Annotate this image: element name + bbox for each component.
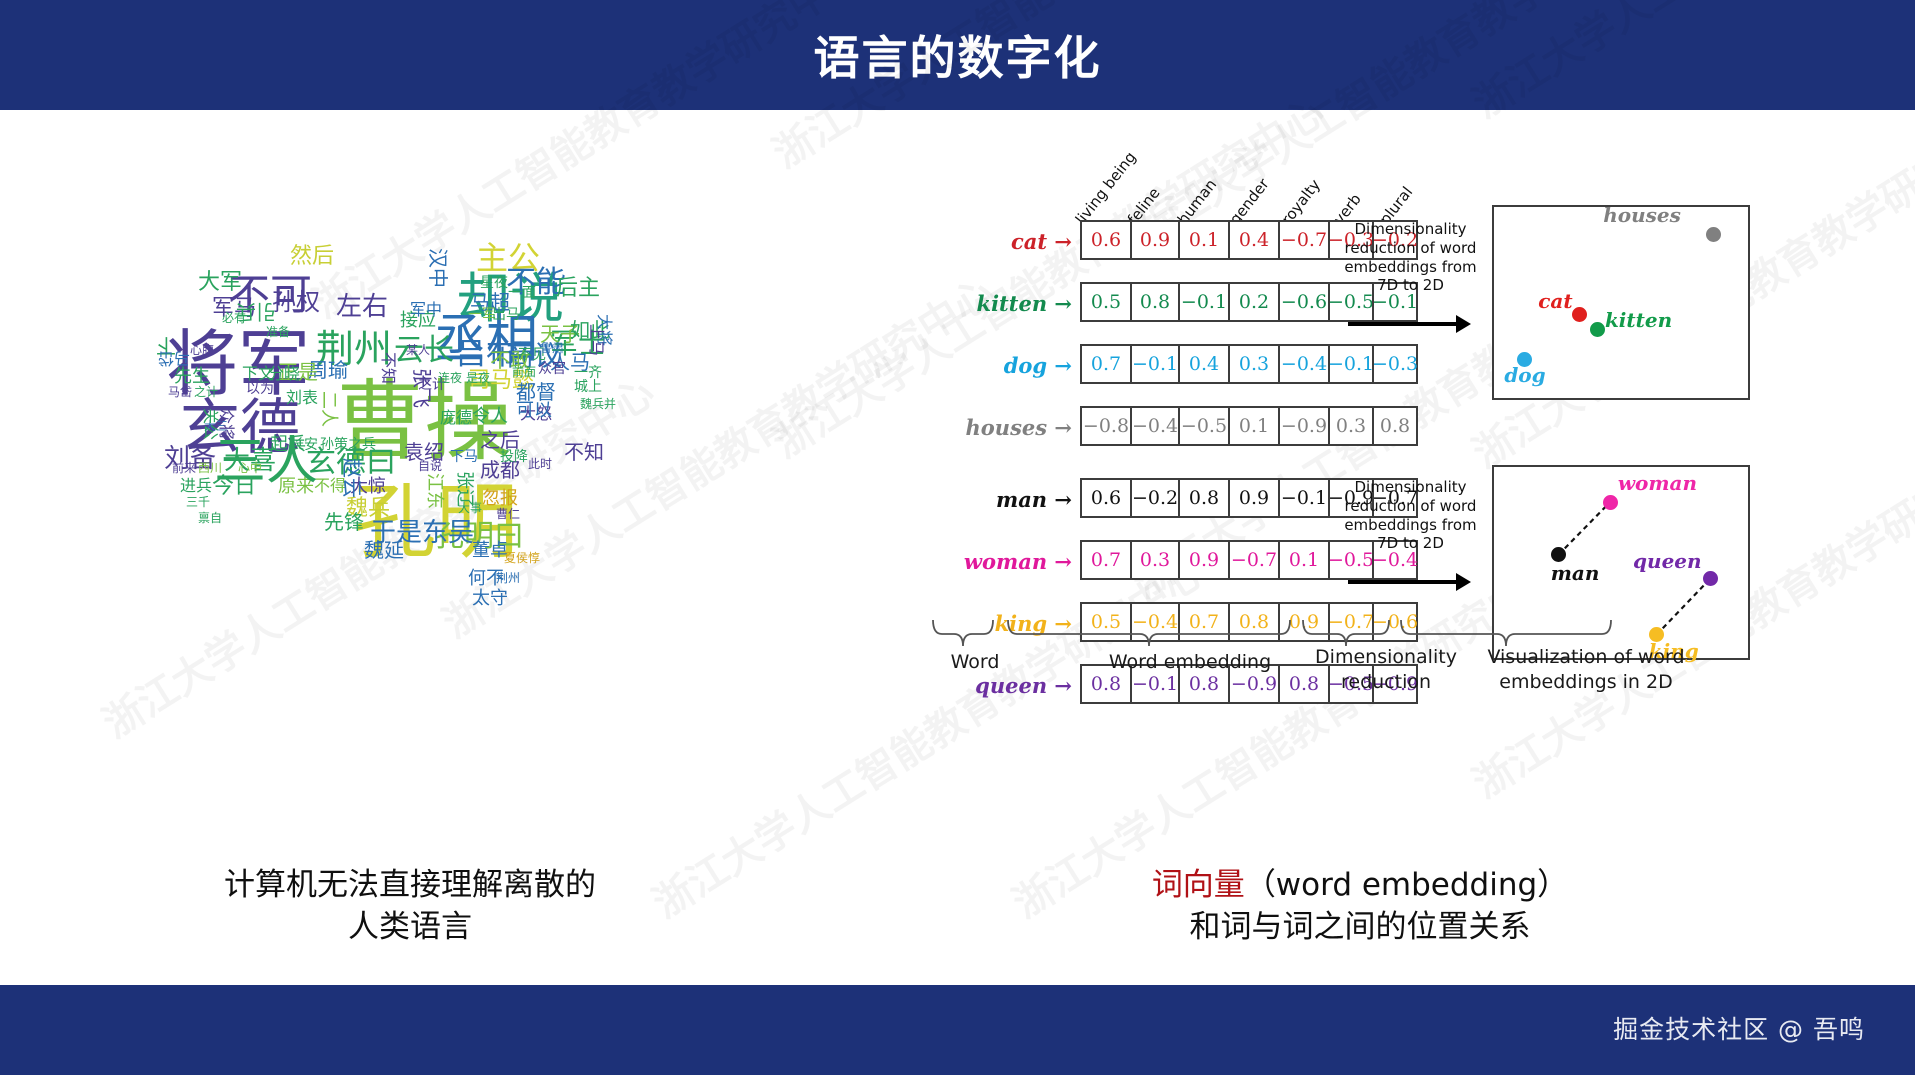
brace-label-word-embedding: Word embedding	[1060, 650, 1320, 675]
embedding-cell: −0.4	[1130, 406, 1180, 446]
scatter-point-queen	[1703, 571, 1718, 586]
embedding-cell: −0.9	[1278, 406, 1330, 446]
embedding-cell: 0.6	[1080, 478, 1132, 518]
word-cloud-term: 忽报	[482, 490, 518, 508]
scatter-point-kitten	[1590, 322, 1605, 337]
word-cloud-term: 庞德	[440, 410, 472, 426]
embedding-cell: −0.2	[1130, 478, 1180, 518]
word-cloud-term: 关公	[202, 408, 218, 440]
word-cloud-term: 准备	[266, 326, 290, 338]
word-cloud-term: 三千	[186, 496, 210, 508]
scatter-point-woman	[1603, 495, 1618, 510]
word-cloud-term: 左右	[336, 294, 388, 320]
brace-label-dim-reduction: Dimensionality reduction	[1306, 645, 1466, 694]
word-cloud-term: 可以	[516, 402, 552, 420]
scatter-label-queen: queen	[1633, 549, 1702, 573]
word-cloud-term: 禀自	[198, 512, 222, 524]
dim-reduction-arrow-top-label: Dimensionality reduction of word embeddi…	[1344, 220, 1476, 294]
dim-reduction-arrow-bottom-label: Dimensionality reduction of word embeddi…	[1344, 478, 1476, 552]
scatter-point-houses	[1706, 227, 1721, 242]
embedding-cell: −0.7	[1228, 540, 1280, 580]
word-cloud-term: 引兵	[236, 302, 276, 322]
dim-reduction-arrow-top: Dimensionality reduction of word embeddi…	[1343, 220, 1478, 295]
scatter-label-kitten: kitten	[1605, 308, 1672, 332]
word-cloud-term: 张辽	[455, 471, 473, 507]
embedding-cell: −0.1	[1130, 344, 1180, 384]
word-cloud-term: 夏侯惇	[504, 552, 540, 564]
embedding-cell: 0.3	[1328, 406, 1374, 446]
footer-credit: 掘金技术社区 @ 吾鸣	[1613, 1010, 1865, 1046]
embedding-cell: 0.7	[1080, 540, 1132, 580]
word-cloud-term: 前面	[512, 366, 536, 378]
embedding-cell: −0.4	[1278, 344, 1330, 384]
embedding-cell: 0.1	[1278, 540, 1330, 580]
caption-right-line2: 和词与词之间的位置关系	[1020, 907, 1700, 949]
embedding-cell: 0.9	[1130, 220, 1180, 260]
embedding-cell: 0.4	[1178, 344, 1230, 384]
embedding-cell: 0.9	[1178, 540, 1230, 580]
caption-right-line1: 词向量（word embedding）	[1020, 865, 1700, 907]
arrow-shaft-top	[1348, 322, 1456, 326]
word-cloud-term: 先锋	[324, 512, 364, 532]
word-cloud-term: 太守	[472, 590, 508, 608]
page-title: 语言的数字化	[0, 0, 1915, 110]
word-cloud-term: 董卓	[472, 542, 508, 560]
word-cloud-term: 连夜	[438, 372, 462, 384]
embedding-cell: 0.9	[1228, 478, 1280, 518]
scatter-point-cat	[1572, 307, 1587, 322]
vector-link	[1559, 502, 1611, 555]
embedding-cell: −0.1	[1328, 344, 1374, 384]
word-cloud-term: 不知	[380, 352, 396, 384]
word-cloud-term: 刘表	[286, 390, 318, 406]
embedding-cell: −0.3	[1372, 344, 1418, 384]
word-cloud-term: 马岱	[158, 350, 190, 366]
word-cloud-term: 分晓	[268, 366, 300, 382]
caption-left-line2: 人类语言	[120, 907, 700, 949]
embedding-cell: 0.1	[1228, 406, 1280, 446]
embedding-cell: −0.6	[1278, 282, 1330, 322]
embedding-cell: 0.5	[1080, 282, 1132, 322]
word-cloud-term: 军中	[410, 302, 442, 318]
word-cloud-term: 之计	[194, 386, 218, 398]
word-cloud-term: 投降	[500, 450, 528, 464]
word-cloud-term: 都督	[516, 382, 556, 402]
embedding-cell: 0.2	[1228, 282, 1280, 322]
row-label-kitten: kitten →	[930, 291, 1072, 316]
embedding-cell: −0.7	[1278, 220, 1330, 260]
word-cloud-term: 鲁肃	[540, 342, 564, 354]
scatter-label-dog: dog	[1504, 363, 1545, 387]
word-cloud-term: 众将	[218, 408, 234, 440]
word-cloud-term: 不知	[564, 442, 604, 462]
scatter-label-cat: cat	[1538, 289, 1572, 313]
row-label-queen: queen →	[930, 673, 1072, 698]
embedding-cell: −0.1	[1178, 282, 1230, 322]
word-cloud-term: 以为	[246, 382, 274, 396]
scatter-label-houses: houses	[1603, 203, 1681, 227]
word-cloud-term: 二人	[319, 391, 337, 427]
word-cloud-term: 出马	[492, 308, 520, 322]
word-cloud-term: 孙策	[320, 438, 348, 452]
caption-right: 词向量（word embedding） 和词与词之间的位置关系	[1020, 865, 1700, 949]
word-cloud-term: 星夜	[480, 276, 508, 290]
word-cloud-term: 后主	[556, 278, 600, 300]
word-cloud-term: 先生	[174, 368, 210, 386]
row-label-man: man →	[930, 487, 1072, 512]
caption-right-highlight: 词向量	[1152, 867, 1245, 903]
word-cloud-term: 一面	[508, 286, 536, 300]
word-cloud-term: 然后	[290, 246, 334, 268]
caption-left-line1: 计算机无法直接理解离散的	[120, 865, 700, 907]
brace-label-visualization: Visualization of word embeddings in 2D	[1446, 645, 1726, 694]
word-cloud-term: 下马	[450, 450, 478, 464]
row-label-houses: houses →	[930, 415, 1072, 440]
embedding-cell: −0.1	[1278, 478, 1330, 518]
row-label-dog: dog →	[930, 353, 1072, 378]
word-cloud-term: 荆州	[496, 572, 520, 584]
word-cloud-term: 自说	[418, 460, 442, 472]
embedding-cell: 0.4	[1228, 220, 1280, 260]
embedding-cell: 0.3	[1228, 344, 1280, 384]
word-cloud-term: 心腹	[190, 344, 214, 356]
embedding-cell: 0.8	[1178, 478, 1230, 518]
word-cloud-term: 城上	[574, 380, 602, 394]
embedding-diagram: living beingfelinehumangenderroyaltyverb…	[930, 160, 1760, 700]
word-cloud-term: 张飞	[412, 368, 432, 408]
word-cloud-term: 之兵	[348, 438, 376, 452]
row-label-woman: woman →	[930, 549, 1072, 574]
dim-reduction-arrow-bottom: Dimensionality reduction of word embeddi…	[1343, 478, 1478, 553]
caption-left: 计算机无法直接理解离散的 人类语言	[120, 865, 700, 949]
scatter-plot-animals: housescatkittendog	[1492, 205, 1750, 400]
embedding-cell: 0.8	[1372, 406, 1418, 446]
caption-right-paren: （word embedding）	[1245, 867, 1568, 903]
embedding-cell: 0.3	[1130, 540, 1180, 580]
word-cloud-term: 一齐	[574, 366, 602, 380]
embedding-cell: 0.6	[1080, 220, 1132, 260]
word-cloud-term: 马岱	[168, 386, 192, 398]
embedding-row: −0.8−0.4−0.50.1−0.90.30.8	[1080, 406, 1418, 446]
word-cloud-term: 曹仁	[496, 508, 520, 520]
word-cloud-term: 某人	[406, 344, 430, 356]
embedding-cell: 0.1	[1178, 220, 1230, 260]
word-cloud-term: 进兵	[180, 478, 212, 494]
embedding-cell: 0.8	[1130, 282, 1180, 322]
word-cloud-term: 是夜	[466, 372, 490, 384]
embedding-cell: −0.5	[1178, 406, 1230, 446]
word-cloud-term: 汉中	[428, 248, 448, 288]
word-cloud-term: 江东	[425, 473, 443, 509]
word-cloud-term: 魏兵并	[580, 398, 616, 410]
embedding-cell: 0.7	[1080, 344, 1132, 384]
arrow-head-bottom	[1456, 573, 1471, 591]
arrow-head-top	[1456, 315, 1471, 333]
row-label-cat: cat →	[930, 229, 1072, 254]
word-cloud-term: 魏延	[364, 540, 404, 560]
scatter-label-man: man	[1551, 561, 1600, 585]
word-cloud-term: 众官	[538, 362, 566, 376]
word-cloud-term: 赵云	[342, 458, 362, 498]
word-cloud-term: 之后	[480, 430, 520, 450]
embedding-cell: −0.8	[1080, 406, 1132, 446]
word-cloud-term: 大军	[198, 272, 242, 294]
word-cloud: 曹操孔明将军玄德却说丞相不可荆州主公不能云长吕布商议军士孔明曰玄德曰于是东吴刘备…	[150, 250, 670, 720]
embedding-row: 0.7−0.10.40.3−0.4−0.1−0.3	[1080, 344, 1418, 384]
word-cloud-term: 上马	[588, 324, 604, 356]
word-cloud-term: 此时	[528, 458, 552, 470]
word-cloud-term: 孙权	[272, 290, 320, 314]
scatter-label-woman: woman	[1618, 471, 1697, 495]
word-cloud-term: 令人	[472, 408, 508, 426]
word-cloud-term: 前来	[172, 462, 196, 474]
brace-label-word: Word	[920, 650, 1030, 675]
arrow-shaft-bottom	[1348, 580, 1456, 584]
word-cloud-term: 三人	[214, 436, 318, 488]
